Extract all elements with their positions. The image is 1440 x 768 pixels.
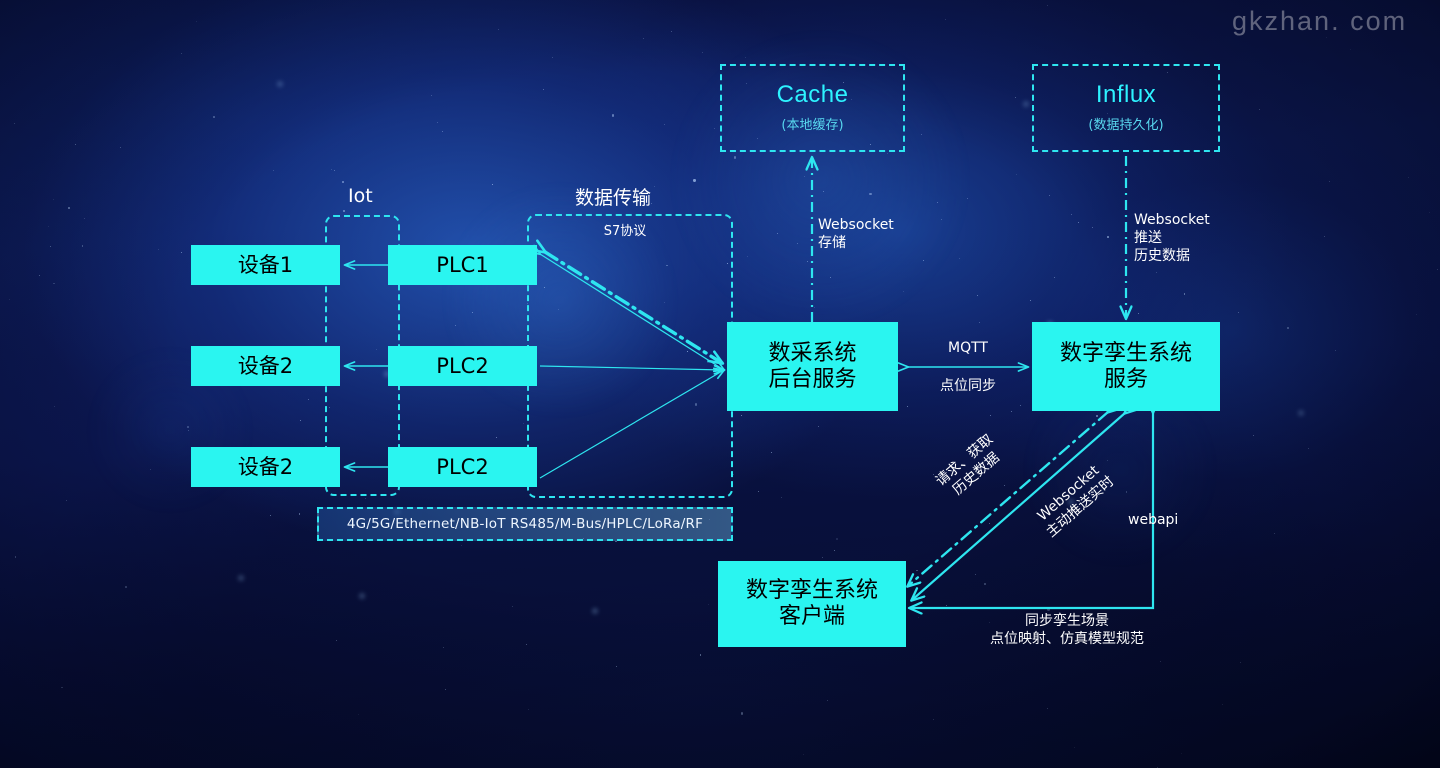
plc-box-2[interactable]: PLC2	[388, 346, 537, 386]
device-box-2[interactable]: 设备2	[191, 346, 340, 386]
caption-mqtt: MQTT	[913, 340, 1023, 358]
service-box-collector[interactable]: 数采系统 后台服务	[727, 322, 898, 411]
protocol-bar: 4G/5G/Ethernet/NB-IoT RS485/M-Bus/HPLC/L…	[317, 507, 733, 541]
store-box-influx[interactable]: Influx (数据持久化)	[1032, 64, 1220, 152]
caption-point-sync: 点位同步	[913, 378, 1023, 396]
device-box-1[interactable]: 设备1	[191, 245, 340, 285]
service-box-twin-server[interactable]: 数字孪生系统 服务	[1032, 322, 1220, 411]
service-box-twin-client[interactable]: 数字孪生系统 客户端	[718, 561, 906, 647]
store-title-influx: Influx	[1096, 83, 1156, 107]
plc-box-1[interactable]: PLC1	[388, 245, 537, 285]
caption-s7-protocol: S7协议	[570, 224, 680, 241]
store-box-cache[interactable]: Cache (本地缓存)	[720, 64, 905, 152]
store-title-cache: Cache	[777, 83, 849, 107]
device-box-3[interactable]: 设备2	[191, 447, 340, 487]
store-subtitle-influx: (数据持久化)	[1088, 114, 1163, 133]
diagram-canvas: gkzhan. com Iot 数据传输	[0, 0, 1440, 768]
caption-cache-link: Websocket 存储	[818, 217, 928, 253]
store-subtitle-cache: (本地缓存)	[781, 114, 843, 133]
caption-scene-sync: 同步孪生场景 点位映射、仿真模型规范	[940, 613, 1194, 649]
caption-webapi: webapi	[1128, 512, 1228, 530]
plc-box-3[interactable]: PLC2	[388, 447, 537, 487]
caption-influx-link: Websocket 推送 历史数据	[1134, 212, 1244, 266]
